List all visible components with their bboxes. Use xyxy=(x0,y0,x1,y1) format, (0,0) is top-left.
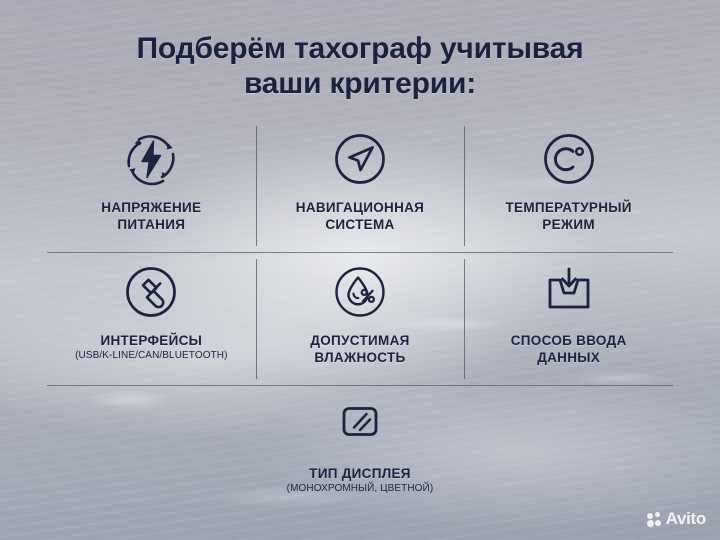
label-line-2: ПИТАНИЯ xyxy=(117,217,185,232)
celsius-degree-icon xyxy=(540,128,598,190)
label-line-1: ДОПУСТИМАЯ xyxy=(310,333,409,348)
criteria-cell-voltage[interactable]: НАПРЯЖЕНИЕ ПИТАНИЯ xyxy=(47,120,256,252)
criteria-cell-interfaces[interactable]: ИНТЕРФЕЙСЫ (USB/K-LINE/CAN/BLUETOOTH) xyxy=(47,253,256,385)
criteria-cell-humidity[interactable]: ДОПУСТИМАЯ ВЛАЖНОСТЬ xyxy=(256,253,465,385)
label-line-2: СИСТЕМА xyxy=(325,217,394,232)
label-line-1: ТЕМПЕРАТУРНЫЙ xyxy=(505,200,631,215)
criteria-cell-empty-left xyxy=(47,386,256,501)
criteria-label: НАПРЯЖЕНИЕ ПИТАНИЯ xyxy=(101,199,201,234)
label-line-1: СПОСОБ ВВОДА xyxy=(511,333,627,348)
navigation-arrow-icon xyxy=(331,128,389,190)
criteria-label: ИНТЕРФЕЙСЫ xyxy=(100,332,202,349)
voltage-refresh-icon xyxy=(121,128,181,190)
label-line-2: ДАННЫХ xyxy=(537,350,600,365)
title-line-1: Подберём тахограф учитывая xyxy=(137,32,584,65)
grid-divider-vertical xyxy=(464,126,465,246)
criteria-subtitle: (МОНОХРОМНЫЙ, ЦВЕТНОЙ) xyxy=(287,483,434,496)
label-line-2: РЕЖИМ xyxy=(542,217,595,232)
page-title: Подберём тахограф учитывая ваши критерии… xyxy=(0,31,720,102)
criteria-grid: НАПРЯЖЕНИЕ ПИТАНИЯ НАВИГАЦИОННАЯ СИСТЕМА xyxy=(47,120,673,515)
label-line-2: ВЛАЖНОСТЬ xyxy=(314,350,405,365)
criteria-label: ТЕМПЕРАТУРНЫЙ РЕЖИМ xyxy=(505,199,631,234)
criteria-cell-display-type[interactable]: ТИП ДИСПЛЕЯ (МОНОХРОМНЫЙ, ЦВЕТНОЙ) xyxy=(256,386,465,501)
title-line-2: ваши критерии: xyxy=(0,66,720,101)
criteria-label: СПОСОБ ВВОДА ДАННЫХ xyxy=(511,332,627,367)
label-line-1: ТИП ДИСПЛЕЯ xyxy=(309,466,411,481)
criteria-row-2: ИНТЕРФЕЙСЫ (USB/K-LINE/CAN/BLUETOOTH) xyxy=(47,253,673,385)
display-screen-icon xyxy=(331,394,389,456)
avito-watermark: Avito xyxy=(647,509,706,529)
criteria-row-1: НАПРЯЖЕНИЕ ПИТАНИЯ НАВИГАЦИОННАЯ СИСТЕМА xyxy=(47,120,673,252)
connector-plug-icon xyxy=(122,261,180,323)
avito-brand-text: Avito xyxy=(666,509,706,529)
grid-divider-vertical xyxy=(464,259,465,379)
grid-divider-vertical xyxy=(256,259,257,379)
criteria-label: НАВИГАЦИОННАЯ СИСТЕМА xyxy=(296,199,424,234)
poster: Подберём тахограф учитывая ваши критерии… xyxy=(0,0,720,540)
label-line-1: ИНТЕРФЕЙСЫ xyxy=(100,333,202,348)
grid-divider-vertical xyxy=(256,126,257,246)
label-line-1: НАПРЯЖЕНИЕ xyxy=(101,200,201,215)
criteria-cell-temperature[interactable]: ТЕМПЕРАТУРНЫЙ РЕЖИМ xyxy=(464,120,673,252)
criteria-label: ТИП ДИСПЛЕЯ xyxy=(309,465,411,482)
data-input-tray-icon xyxy=(538,261,600,323)
criteria-subtitle: (USB/K-LINE/CAN/BLUETOOTH) xyxy=(75,350,227,363)
criteria-row-3: ТИП ДИСПЛЕЯ (МОНОХРОМНЫЙ, ЦВЕТНОЙ) xyxy=(47,386,673,501)
humidity-droplet-percent-icon xyxy=(331,261,389,323)
criteria-cell-empty-right xyxy=(464,386,673,501)
avito-dots-logo-icon xyxy=(647,512,662,527)
criteria-label: ДОПУСТИМАЯ ВЛАЖНОСТЬ xyxy=(310,332,409,367)
label-line-1: НАВИГАЦИОННАЯ xyxy=(296,200,424,215)
criteria-cell-data-input[interactable]: СПОСОБ ВВОДА ДАННЫХ xyxy=(464,253,673,385)
criteria-cell-navigation[interactable]: НАВИГАЦИОННАЯ СИСТЕМА xyxy=(256,120,465,252)
